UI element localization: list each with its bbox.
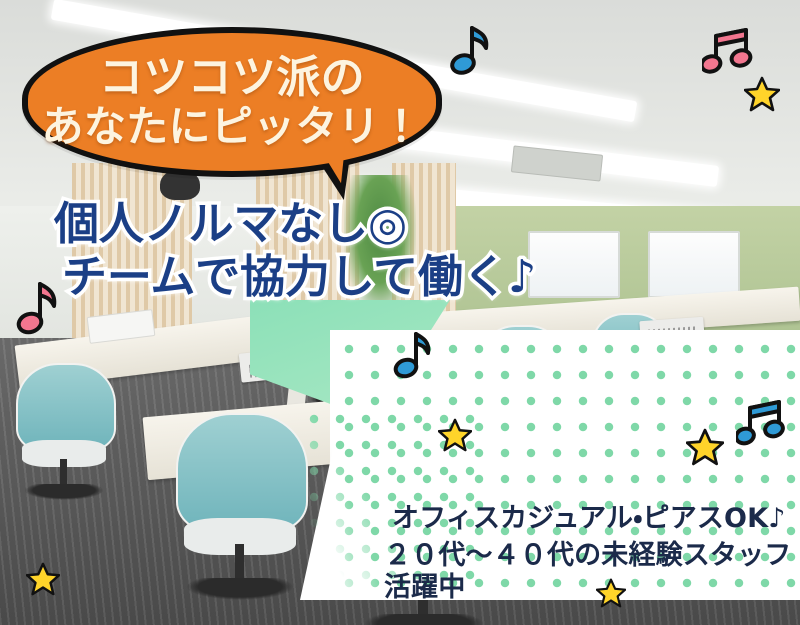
music-note-icon	[392, 328, 434, 384]
headline-line-2: チームで協力して働く♪	[62, 253, 536, 302]
job-ad-poster: コツコツ派の あなたにピッタリ！ 個人ノルマなし◎ チームで協力して働く♪ オフ…	[0, 0, 800, 625]
caption-line-1: オフィスカジュアル・ピアスOK♪	[392, 503, 800, 535]
music-note-beamed-icon	[702, 26, 756, 78]
chair-back	[176, 413, 308, 533]
star-icon	[686, 428, 724, 466]
speech-bubble-line-2: あなたにピッタリ！	[42, 105, 423, 150]
chair-base	[24, 484, 105, 501]
office-chair	[16, 382, 112, 500]
chair-base	[186, 578, 294, 601]
speech-bubble-text: コツコツ派の あなたにピッタリ！	[22, 27, 442, 177]
star-icon	[438, 418, 472, 452]
star-icon	[744, 76, 780, 112]
headline: 個人ノルマなし◎ チームで協力して働く♪	[54, 200, 536, 301]
headline-line-1: 個人ノルマなし◎	[54, 200, 536, 249]
speech-bubble-line-1: コツコツ派の	[99, 55, 365, 102]
chair-post	[60, 459, 67, 484]
office-chair	[176, 413, 304, 601]
caption-line-2: ２０代〜４０代の未経験スタッフ活躍中	[384, 540, 800, 604]
music-note-beamed-icon	[736, 398, 788, 450]
music-note-icon	[448, 22, 492, 80]
caption: オフィスカジュアル・ピアスOK♪ ２０代〜４０代の未経験スタッフ活躍中	[392, 503, 800, 604]
chair-post	[235, 544, 244, 578]
star-icon	[26, 562, 60, 596]
chair-base	[364, 614, 374, 625]
speech-bubble: コツコツ派の あなたにピッタリ！	[22, 27, 442, 177]
